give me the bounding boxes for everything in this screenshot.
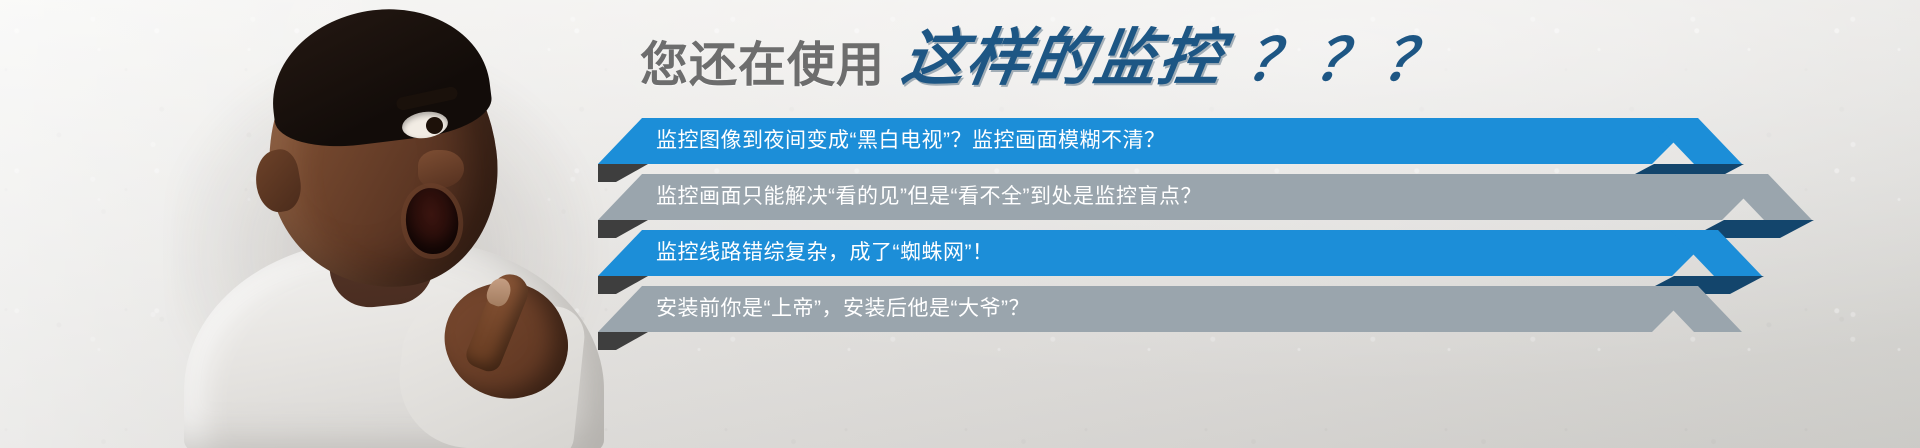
bullet-row-label: 监控线路错综复杂，成了“蜘蛛网”！ <box>656 230 994 276</box>
headline-lead-text: 您还在使用 <box>640 42 885 90</box>
headline-question-marks: ？？？ <box>1236 32 1455 90</box>
person-photo <box>150 0 670 448</box>
headline: 您还在使用 这样的监控 ？？？ <box>640 28 1451 90</box>
headline-emphasis-text: 这样的监控 <box>898 28 1228 90</box>
bullet-row-label: 监控图像到夜间变成“黑白电视”？监控画面模糊不清？ <box>656 118 1165 164</box>
bullet-row-label: 安装前你是“上帝”，安装后他是“大爷”？ <box>656 286 1030 332</box>
bullet-row: 监控线路错综复杂，成了“蜘蛛网”！ <box>598 230 1718 276</box>
promo-banner: 您还在使用 这样的监控 ？？？ 监控图像到夜间变成“黑白电视”？监控画面模糊不清… <box>0 0 1920 448</box>
bullet-row: 监控画面只能解决“看的见”但是“看不全”到处是监控盲点？ <box>598 174 1768 220</box>
person-pupil <box>426 117 443 134</box>
bullet-row: 监控图像到夜间变成“黑白电视”？监控画面模糊不清？ <box>598 118 1698 164</box>
bullet-row-label: 监控画面只能解决“看的见”但是“看不全”到处是监控盲点？ <box>656 174 1202 220</box>
bullet-row: 安装前你是“上帝”，安装后他是“大爷”？ <box>598 286 1698 332</box>
bullet-row-list: 监控图像到夜间变成“黑白电视”？监控画面模糊不清？ 监控画面只能解决“看的见”但… <box>598 118 1908 342</box>
